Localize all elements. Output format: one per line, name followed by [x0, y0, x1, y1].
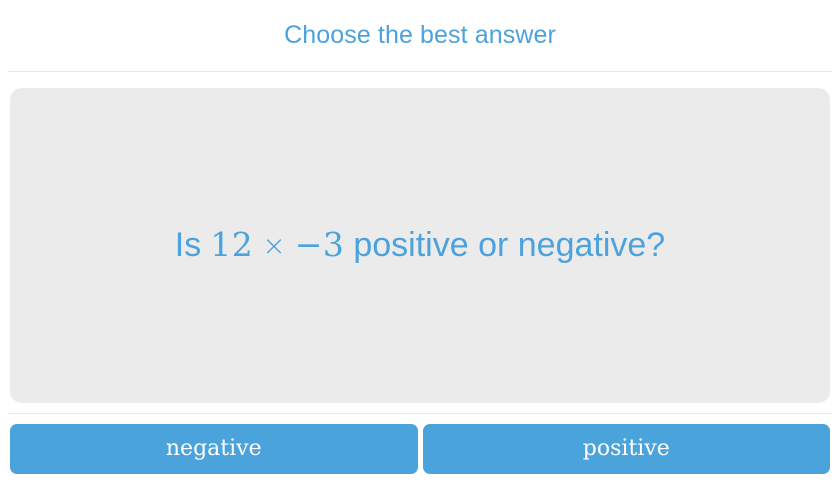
answers-divider: [8, 413, 832, 414]
question-prefix: Is: [175, 226, 201, 264]
question-suffix: positive or negative?: [353, 226, 665, 264]
answer-option-negative-label: negative: [166, 438, 262, 460]
quiz-header: Choose the best answer: [0, 0, 840, 71]
multiplication-sign-icon: ×: [262, 229, 285, 262]
header-divider: [8, 71, 832, 72]
question-card: Is12×−3positive or negative?: [10, 88, 830, 403]
answer-option-negative[interactable]: negative: [10, 424, 418, 474]
question-text: Is12×−3positive or negative?: [175, 226, 665, 265]
page-title: Choose the best answer: [284, 23, 556, 48]
math-operand-left: 12: [210, 225, 253, 264]
answer-options-row: negative positive: [10, 424, 830, 474]
quiz-app: Choose the best answer Is12×−3positive o…: [0, 0, 840, 501]
answer-option-positive[interactable]: positive: [423, 424, 831, 474]
math-operand-right: −3: [295, 225, 345, 264]
answer-option-positive-label: positive: [583, 438, 670, 460]
